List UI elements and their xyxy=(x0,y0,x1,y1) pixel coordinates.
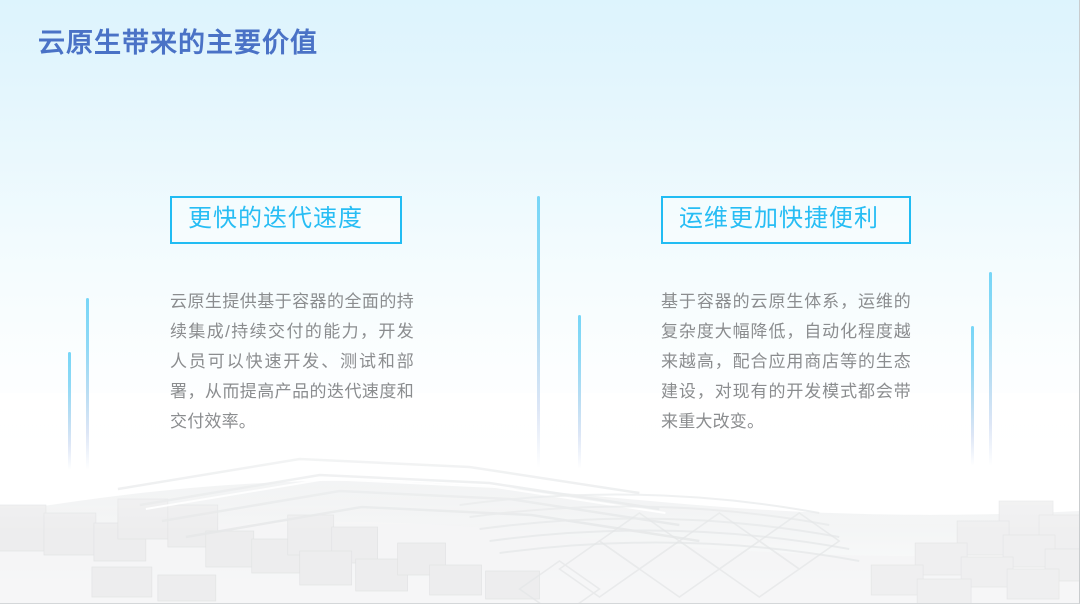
value-column-1: 更快的迭代速度 云原生提供基于容器的全面的持续集成/持续交付的能力，开发人员可以… xyxy=(170,196,416,437)
decor-line-1 xyxy=(68,352,71,470)
decor-line-3 xyxy=(537,196,540,468)
landscape-svg xyxy=(0,393,1079,603)
decor-line-5 xyxy=(971,326,974,466)
value-heading-2: 运维更加快捷便利 xyxy=(679,204,893,234)
value-heading-1: 更快的迭代速度 xyxy=(188,204,384,234)
value-heading-box-2: 运维更加快捷便利 xyxy=(661,196,911,244)
background-landscape-illustration xyxy=(0,393,1079,603)
decor-line-6 xyxy=(989,272,992,466)
decor-line-2 xyxy=(86,298,89,470)
value-column-2: 运维更加快捷便利 基于容器的云原生体系，运维的复杂度大幅降低，自动化程度越来越高… xyxy=(661,196,913,437)
value-body-2: 基于容器的云原生体系，运维的复杂度大幅降低，自动化程度越来越高，配合应用商店等的… xyxy=(661,287,911,437)
page-title: 云原生带来的主要价值 xyxy=(38,21,318,60)
slide-canvas: 云原生带来的主要价值 更快的迭代速度 云原生提供基于容器的全面的持续集成/持续交… xyxy=(0,0,1080,604)
value-body-1: 云原生提供基于容器的全面的持续集成/持续交付的能力，开发人员可以快速开发、测试和… xyxy=(170,287,414,437)
value-heading-box-1: 更快的迭代速度 xyxy=(170,196,402,244)
decor-line-4 xyxy=(578,315,581,469)
